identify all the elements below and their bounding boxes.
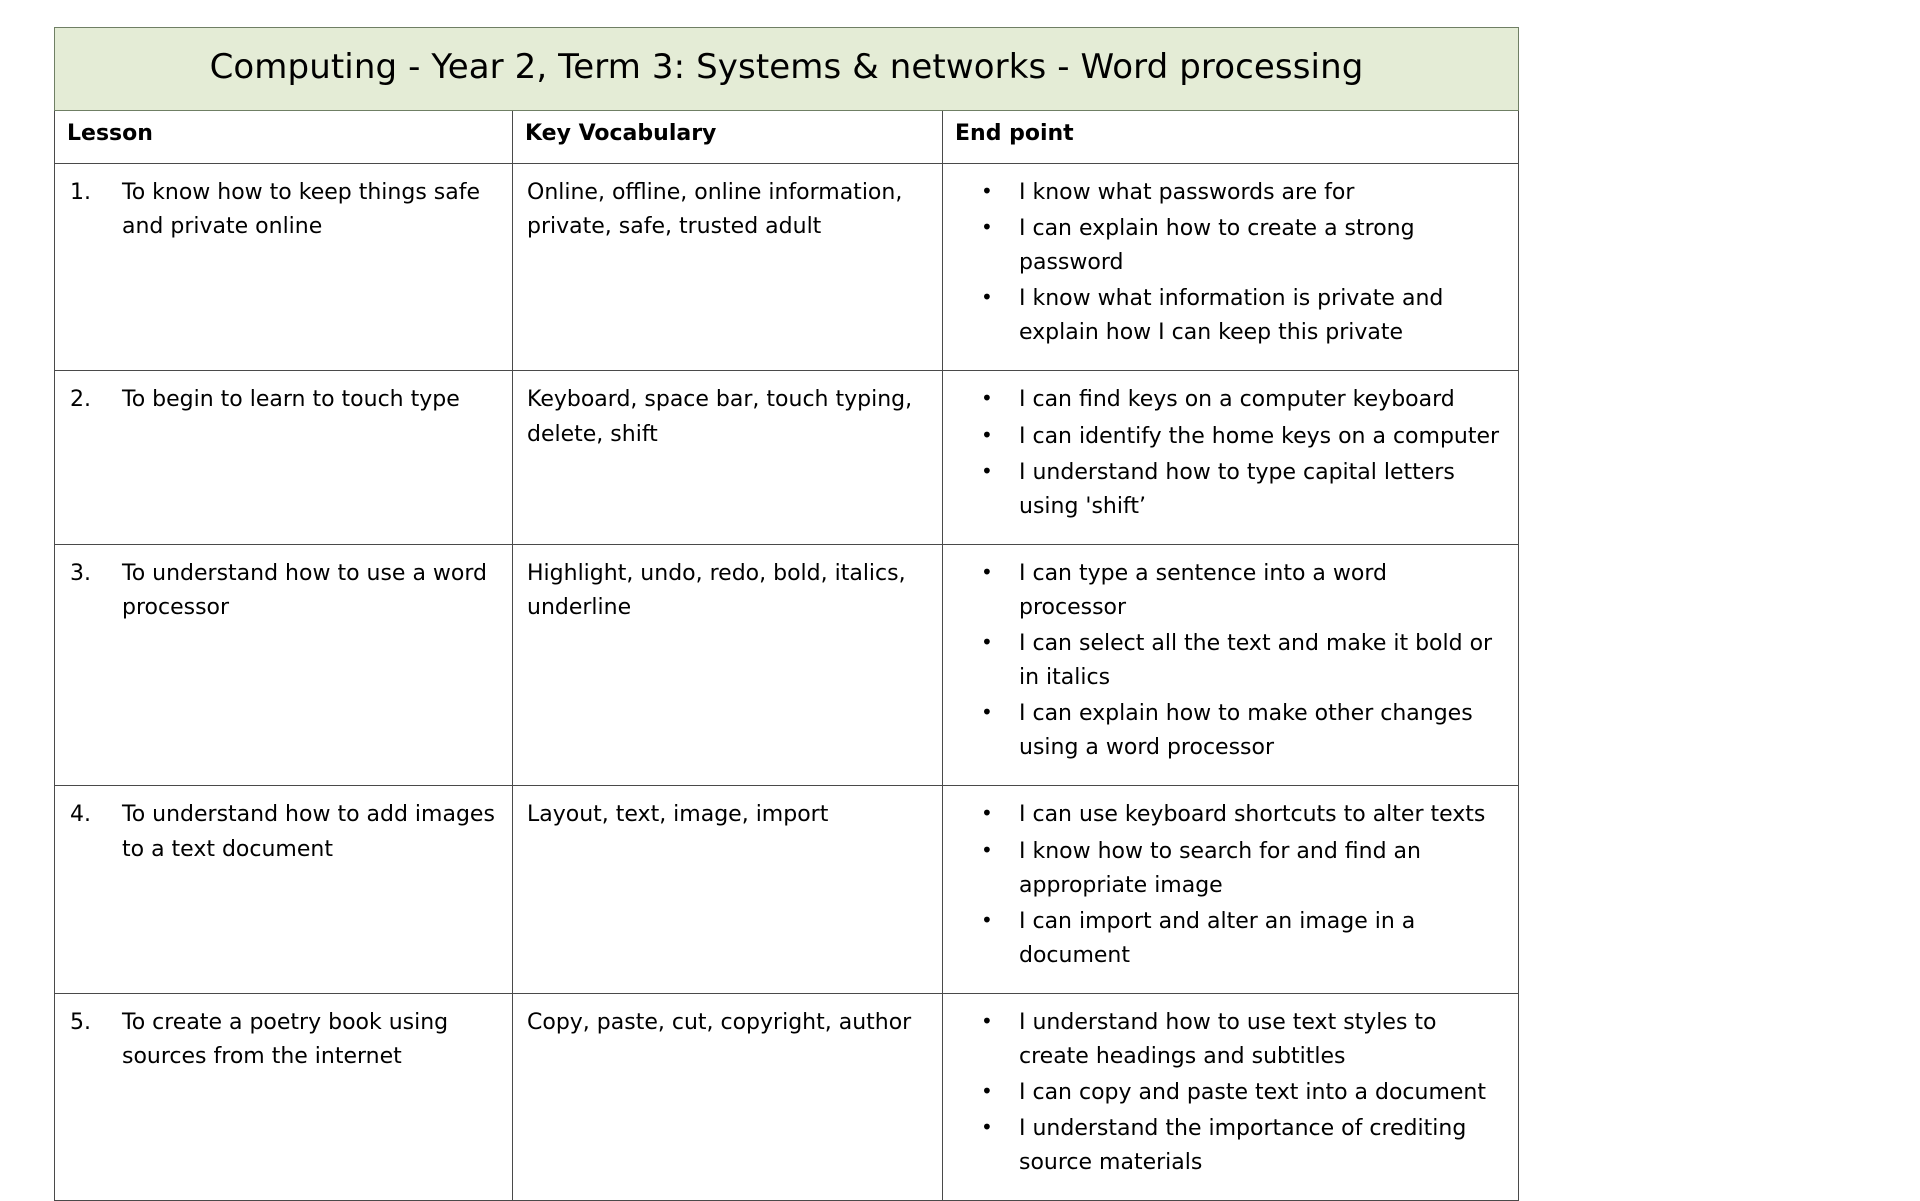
bullet-icon: • [959,176,1019,207]
lesson-cell: 2. To begin to learn to touch type [55,371,513,544]
table-title-row: Computing - Year 2, Term 3: Systems & ne… [55,28,1519,111]
lesson-number: 5. [70,1006,122,1040]
vocabulary-cell: Online, offline, online information, pri… [513,164,943,371]
lesson-cell: 5. To create a poetry book using sources… [55,993,513,1200]
endpoint-text: I know what passwords are for [1019,176,1504,210]
list-item: • I understand the importance of crediti… [959,1112,1504,1180]
vocabulary-text: Layout, text, image, import [525,798,930,832]
endpoint-text: I can explain how to create a strong pas… [1019,212,1504,280]
endpoint-list: • I understand how to use text styles to… [959,1006,1504,1180]
bullet-icon: • [959,1006,1019,1037]
list-item: • I can import and alter an image in a d… [959,905,1504,973]
list-item: • I know how to search for and find an a… [959,835,1504,903]
curriculum-table: Computing - Year 2, Term 3: Systems & ne… [54,27,1519,1201]
list-item: • I can find keys on a computer keyboard [959,383,1504,417]
endpoint-list: • I can find keys on a computer keyboard… [959,383,1504,523]
endpoint-text: I understand how to type capital letters… [1019,456,1504,524]
table-row: 5. To create a poetry book using sources… [55,993,1519,1200]
lesson-cell: 4. To understand how to add images to a … [55,786,513,993]
vocabulary-cell: Layout, text, image, import [513,786,943,993]
bullet-icon: • [959,456,1019,487]
lesson-cell: 3. To understand how to use a word proce… [55,544,513,786]
endpoint-text: I can identify the home keys on a comput… [1019,420,1504,454]
lesson-number: 3. [70,557,122,591]
endpoint-cell: • I can type a sentence into a word proc… [943,544,1519,786]
table-row: 2. To begin to learn to touch type Keybo… [55,371,1519,544]
list-item: • I can explain how to create a strong p… [959,212,1504,280]
list-item: • I can use keyboard shortcuts to alter … [959,798,1504,832]
vocabulary-text: Copy, paste, cut, copyright, author [525,1006,930,1040]
vocabulary-cell: Keyboard, space bar, touch typing, delet… [513,371,943,544]
bullet-icon: • [959,798,1019,829]
endpoint-cell: • I understand how to use text styles to… [943,993,1519,1200]
lesson-number: 1. [70,176,122,210]
lesson-item: 4. To understand how to add images to a … [67,798,500,866]
endpoint-list: • I can type a sentence into a word proc… [959,557,1504,766]
list-item: • I can select all the text and make it … [959,627,1504,695]
endpoint-text: I can explain how to make other changes … [1019,697,1504,765]
lesson-item: 5. To create a poetry book using sources… [67,1006,500,1074]
list-item: • I understand how to use text styles to… [959,1006,1504,1074]
vocabulary-text: Online, offline, online information, pri… [525,176,930,244]
lesson-item: 2. To begin to learn to touch type [67,383,500,417]
lesson-objective: To understand how to add images to a tex… [122,798,500,866]
endpoint-text: I can use keyboard shortcuts to alter te… [1019,798,1504,832]
endpoint-text: I know what information is private and e… [1019,282,1504,350]
endpoint-text: I understand the importance of crediting… [1019,1112,1504,1180]
lesson-item: 1. To know how to keep things safe and p… [67,176,500,244]
table-row: 4. To understand how to add images to a … [55,786,1519,993]
endpoint-text: I know how to search for and find an app… [1019,835,1504,903]
list-item: • I can explain how to make other change… [959,697,1504,765]
bullet-icon: • [959,1076,1019,1107]
endpoint-text: I can import and alter an image in a doc… [1019,905,1504,973]
endpoint-text: I understand how to use text styles to c… [1019,1006,1504,1074]
endpoint-list: • I can use keyboard shortcuts to alter … [959,798,1504,972]
endpoint-text: I can select all the text and make it bo… [1019,627,1504,695]
lesson-objective: To begin to learn to touch type [122,383,500,417]
lesson-objective: To understand how to use a word processo… [122,557,500,625]
endpoint-text: I can find keys on a computer keyboard [1019,383,1504,417]
endpoint-cell: • I know what passwords are for • I can … [943,164,1519,371]
list-item: • I can identify the home keys on a comp… [959,420,1504,454]
column-header-lesson: Lesson [55,111,513,164]
endpoint-cell: • I can use keyboard shortcuts to alter … [943,786,1519,993]
page-title: Computing - Year 2, Term 3: Systems & ne… [65,48,1508,86]
list-item: • I can type a sentence into a word proc… [959,557,1504,625]
endpoint-text: I can type a sentence into a word proces… [1019,557,1504,625]
table-row: 1. To know how to keep things safe and p… [55,164,1519,371]
bullet-icon: • [959,835,1019,866]
table-header-row: Lesson Key Vocabulary End point [55,111,1519,164]
endpoint-list: • I know what passwords are for • I can … [959,176,1504,350]
list-item: • I know what information is private and… [959,282,1504,350]
table-row: 3. To understand how to use a word proce… [55,544,1519,786]
bullet-icon: • [959,1112,1019,1143]
bullet-icon: • [959,627,1019,658]
bullet-icon: • [959,557,1019,588]
lesson-number: 2. [70,383,122,417]
bullet-icon: • [959,282,1019,313]
lesson-objective: To create a poetry book using sources fr… [122,1006,500,1074]
vocabulary-text: Keyboard, space bar, touch typing, delet… [525,383,930,451]
vocabulary-cell: Copy, paste, cut, copyright, author [513,993,943,1200]
endpoint-cell: • I can find keys on a computer keyboard… [943,371,1519,544]
column-header-end-point: End point [943,111,1519,164]
column-header-key-vocabulary: Key Vocabulary [513,111,943,164]
lesson-item: 3. To understand how to use a word proce… [67,557,500,625]
endpoint-text: I can copy and paste text into a documen… [1019,1076,1504,1110]
document-page: Computing - Year 2, Term 3: Systems & ne… [0,0,1920,1201]
bullet-icon: • [959,905,1019,936]
lesson-number: 4. [70,798,122,832]
bullet-icon: • [959,212,1019,243]
bullet-icon: • [959,697,1019,728]
vocabulary-text: Highlight, undo, redo, bold, italics, un… [525,557,930,625]
title-cell: Computing - Year 2, Term 3: Systems & ne… [55,28,1519,111]
lesson-cell: 1. To know how to keep things safe and p… [55,164,513,371]
bullet-icon: • [959,383,1019,414]
vocabulary-cell: Highlight, undo, redo, bold, italics, un… [513,544,943,786]
list-item: • I understand how to type capital lette… [959,456,1504,524]
list-item: • I can copy and paste text into a docum… [959,1076,1504,1110]
bullet-icon: • [959,420,1019,451]
list-item: • I know what passwords are for [959,176,1504,210]
lesson-objective: To know how to keep things safe and priv… [122,176,500,244]
